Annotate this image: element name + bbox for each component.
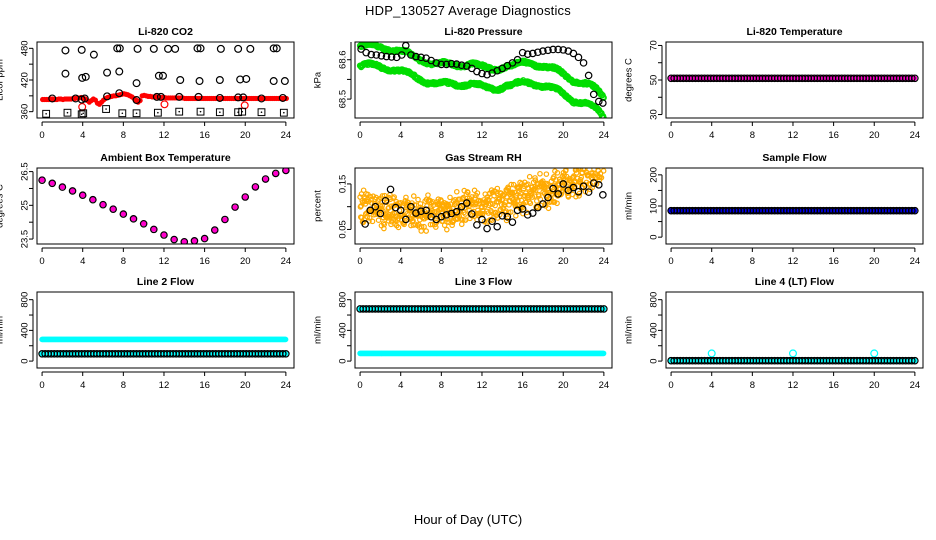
y-tick-label: 0	[337, 358, 348, 363]
x-tick-label: 0	[668, 130, 673, 141]
x-tick-label: 8	[439, 380, 444, 391]
panel-title: Ambient Box Temperature	[100, 152, 231, 164]
x-tick-label: 12	[159, 380, 170, 391]
plot-grid: Li-820 CO204812162024360420480Licor ppmL…	[0, 0, 936, 505]
y-tick-label: 0.05	[337, 220, 348, 239]
y-tick-label: 400	[648, 322, 659, 338]
x-tick-label: 4	[709, 380, 714, 391]
series-hourly-upper	[62, 68, 288, 86]
x-tick-label: 0	[357, 130, 362, 141]
x-tick-label: 16	[199, 380, 210, 391]
x-tick-label: 12	[788, 380, 799, 391]
panel-title: Li-820 Pressure	[444, 26, 522, 38]
x-tick-label: 20	[558, 130, 569, 141]
x-tick-label: 20	[869, 256, 880, 267]
x-tick-label: 8	[121, 130, 126, 141]
panel-line-3-flow: Line 3 Flow048121620240400800ml/min	[312, 276, 612, 391]
x-tick-label: 8	[121, 256, 126, 267]
x-tick-label: 8	[439, 256, 444, 267]
x-tick-label: 24	[281, 256, 292, 267]
figure-xlabel: Hour of Day (UTC)	[0, 512, 936, 527]
x-tick-label: 0	[39, 380, 44, 391]
panel-title: Line 4 (LT) Flow	[755, 276, 835, 288]
x-tick-label: 20	[869, 130, 880, 141]
x-tick-label: 16	[517, 380, 528, 391]
data-layer	[668, 207, 918, 213]
data-layer	[668, 75, 918, 81]
x-tick-label: 4	[80, 380, 85, 391]
data-layer	[668, 350, 918, 364]
y-axis-label: kPa	[312, 71, 323, 88]
x-tick-label: 24	[910, 130, 921, 141]
x-tick-label: 24	[599, 130, 610, 141]
x-tick-label: 24	[281, 130, 292, 141]
x-tick-label: 16	[828, 380, 839, 391]
x-tick-label: 8	[750, 380, 755, 391]
x-tick-label: 24	[910, 256, 921, 267]
x-tick-label: 24	[599, 256, 610, 267]
y-tick-label: 50	[648, 75, 659, 86]
panel-gas-stream-rh: Gas Stream RH048121620240.050.15percent	[312, 152, 612, 267]
panel-title: Li-820 Temperature	[746, 26, 842, 38]
series-purge-spikes	[708, 350, 877, 357]
x-tick-label: 0	[668, 380, 673, 391]
x-tick-label: 12	[477, 256, 488, 267]
series-hourly-max	[62, 45, 280, 58]
plot-frame	[666, 168, 923, 244]
x-tick-label: 12	[477, 130, 488, 141]
x-tick-label: 24	[599, 380, 610, 391]
data-layer	[39, 337, 289, 357]
y-tick-label: 800	[19, 292, 30, 308]
x-tick-label: 16	[828, 130, 839, 141]
y-tick-label: 200	[648, 167, 659, 183]
x-tick-label: 16	[517, 130, 528, 141]
x-tick-label: 4	[80, 256, 85, 267]
y-tick-label: 68.5	[337, 90, 348, 109]
y-axis-label: ml/min	[623, 192, 634, 220]
y-tick-label: 0	[648, 234, 659, 239]
y-tick-label: 25	[19, 200, 30, 211]
panel-li820-temperature: Li-820 Temperature04812162024305070degre…	[623, 26, 923, 141]
series-raw-upper	[39, 337, 288, 343]
x-tick-label: 12	[477, 380, 488, 391]
panel-title: Line 2 Flow	[137, 276, 195, 288]
y-tick-label: 70	[648, 40, 659, 51]
x-tick-label: 0	[357, 256, 362, 267]
y-tick-label: 800	[337, 292, 348, 308]
x-tick-label: 24	[910, 380, 921, 391]
y-tick-label: 68.6	[337, 50, 348, 69]
x-tick-label: 12	[788, 130, 799, 141]
y-tick-label: 26.5	[19, 162, 30, 181]
x-tick-label: 0	[39, 130, 44, 141]
y-tick-label: 0.15	[337, 175, 348, 194]
x-tick-label: 0	[39, 256, 44, 267]
panel-li820-co2: Li-820 CO204812162024360420480Licor ppm	[0, 26, 294, 141]
x-tick-label: 20	[558, 380, 569, 391]
y-tick-label: 480	[19, 40, 30, 56]
data-layer	[357, 306, 607, 357]
panel-title: Line 3 Flow	[455, 276, 513, 288]
x-tick-label: 16	[828, 256, 839, 267]
y-tick-label: 0	[648, 358, 659, 363]
x-tick-label: 4	[709, 256, 714, 267]
x-tick-label: 20	[869, 380, 880, 391]
y-tick-label: 23.5	[19, 230, 30, 249]
x-tick-label: 16	[199, 256, 210, 267]
series-average	[40, 91, 289, 107]
x-tick-label: 16	[199, 130, 210, 141]
panel-ambient-box-temperature: Ambient Box Temperature0481216202423.525…	[0, 152, 294, 267]
y-tick-label: 100	[648, 198, 659, 214]
x-tick-label: 8	[750, 130, 755, 141]
y-axis-label: ml/min	[623, 316, 634, 344]
x-tick-label: 24	[281, 380, 292, 391]
x-tick-label: 8	[750, 256, 755, 267]
plot-frame	[37, 42, 294, 118]
panel-li820-pressure: Li-820 Pressure0481216202468.568.6kPa	[312, 26, 612, 141]
y-axis-label: ml/min	[0, 316, 5, 344]
x-tick-label: 4	[398, 380, 403, 391]
x-tick-label: 0	[668, 256, 673, 267]
series-raw-lower	[357, 351, 606, 357]
y-axis-label: Licor ppm	[0, 59, 5, 101]
x-tick-label: 20	[240, 130, 251, 141]
panel-line-4-lt-flow: Line 4 (LT) Flow048121620240400800ml/min	[623, 276, 923, 391]
data-layer	[357, 41, 606, 121]
x-tick-label: 8	[121, 380, 126, 391]
data-layer	[358, 166, 606, 233]
x-tick-label: 20	[558, 256, 569, 267]
y-tick-label: 360	[19, 104, 30, 120]
diagnostics-figure: HDP_130527 Average Diagnostics Li-820 CO…	[0, 0, 936, 540]
x-tick-label: 20	[240, 380, 251, 391]
series-raw	[39, 167, 289, 244]
y-axis-label: degrees C	[623, 58, 634, 102]
x-tick-label: 0	[357, 380, 362, 391]
data-layer	[40, 45, 289, 118]
y-tick-label: 0	[19, 358, 30, 363]
y-tick-label: 400	[337, 322, 348, 338]
y-axis-label: percent	[312, 190, 323, 222]
data-layer	[39, 167, 289, 245]
x-tick-label: 12	[159, 130, 170, 141]
plot-frame	[355, 292, 612, 368]
panel-title: Li-820 CO2	[138, 26, 193, 38]
y-axis-label: ml/min	[312, 316, 323, 344]
figure-title: HDP_130527 Average Diagnostics	[0, 3, 936, 18]
y-tick-label: 800	[648, 292, 659, 308]
x-tick-label: 20	[240, 256, 251, 267]
y-axis-label: degrees C	[0, 184, 5, 228]
y-tick-label: 400	[19, 322, 30, 338]
y-tick-label: 30	[648, 109, 659, 120]
x-tick-label: 16	[517, 256, 528, 267]
panel-title: Gas Stream RH	[445, 152, 521, 164]
panel-title: Sample Flow	[762, 152, 827, 164]
x-tick-label: 4	[398, 130, 403, 141]
y-tick-label: 420	[19, 72, 30, 88]
x-tick-label: 12	[788, 256, 799, 267]
x-tick-label: 4	[398, 256, 403, 267]
x-tick-label: 4	[80, 130, 85, 141]
x-tick-label: 12	[159, 256, 170, 267]
panel-sample-flow: Sample Flow048121620240100200ml/min	[623, 152, 923, 267]
x-tick-label: 8	[439, 130, 444, 141]
x-tick-label: 4	[709, 130, 714, 141]
panel-line-2-flow: Line 2 Flow048121620240400800ml/min	[0, 276, 294, 391]
